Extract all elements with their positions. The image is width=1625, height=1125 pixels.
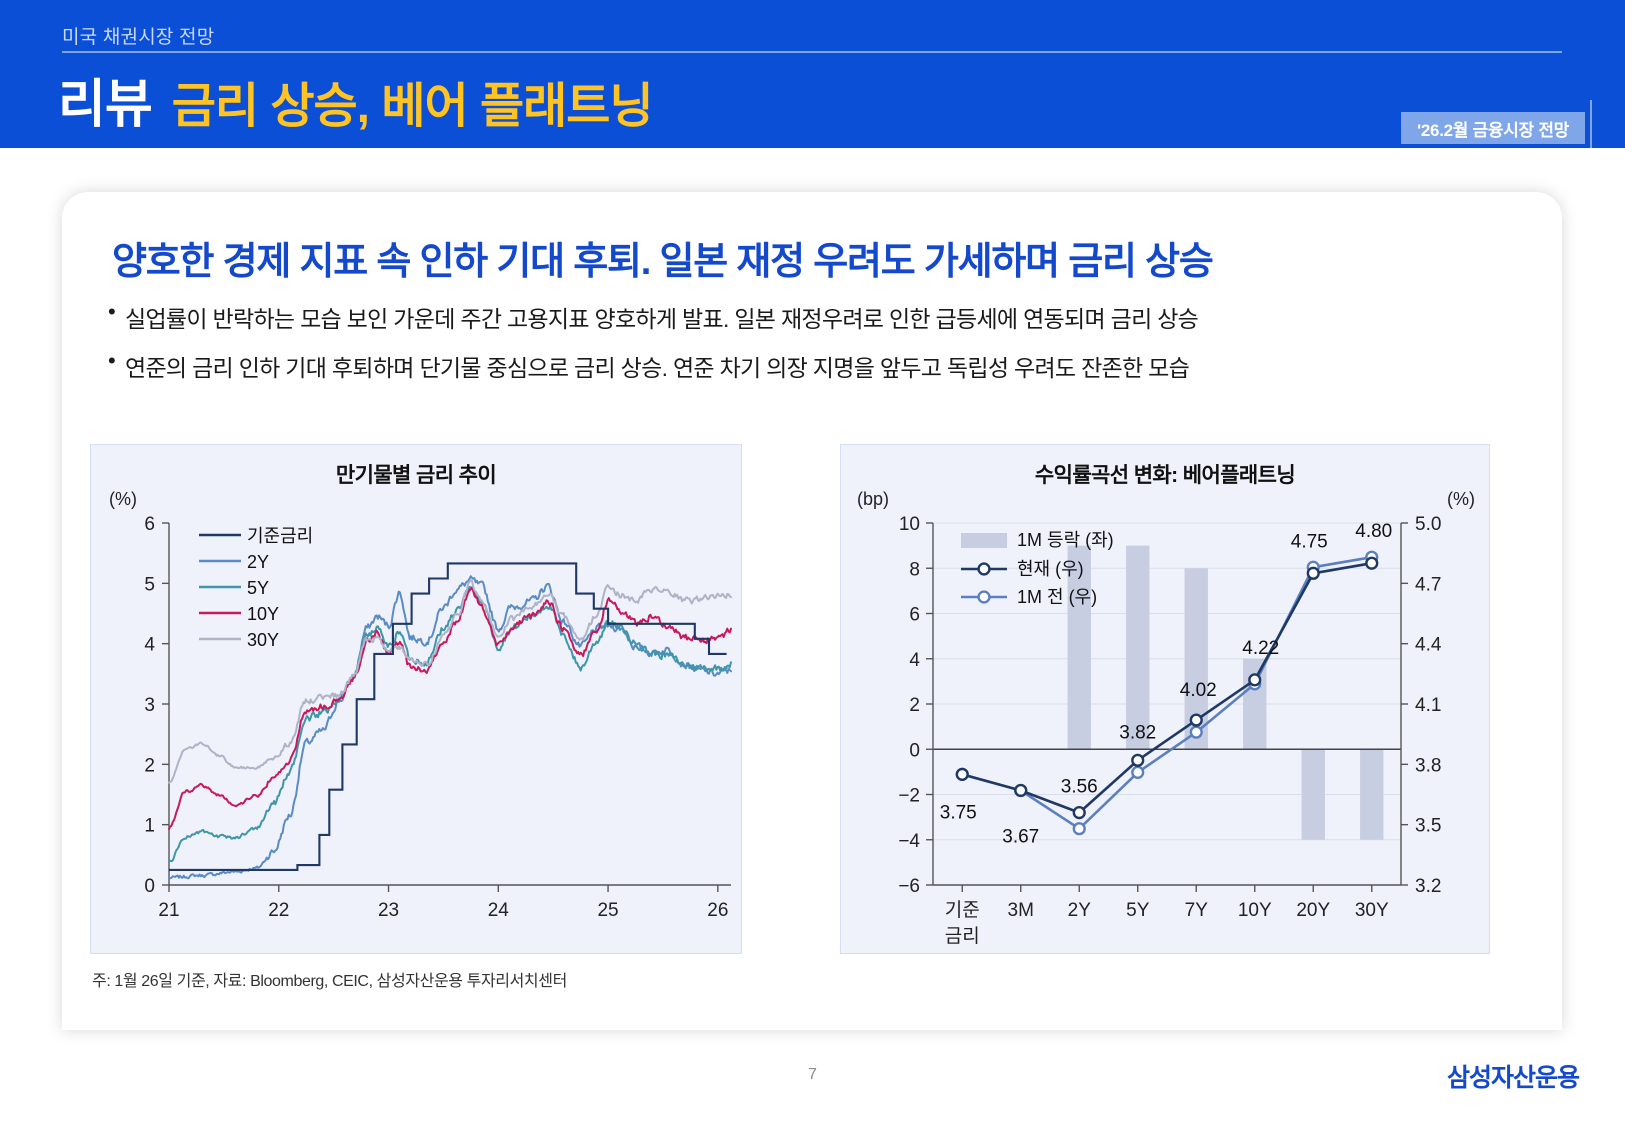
data-label: 3.75 [940, 802, 977, 823]
header-badge-tick [1590, 100, 1592, 148]
data-label: 4.02 [1180, 680, 1217, 701]
svg-text:2Y: 2Y [247, 552, 269, 572]
svg-text:3.5: 3.5 [1415, 816, 1441, 837]
svg-text:2: 2 [909, 695, 920, 716]
svg-text:4.1: 4.1 [1415, 695, 1441, 716]
svg-text:금리: 금리 [945, 925, 980, 947]
data-label: 3.56 [1061, 777, 1098, 798]
svg-text:−2: −2 [898, 786, 920, 807]
svg-text:4.7: 4.7 [1415, 574, 1441, 595]
data-label: 3.67 [1002, 826, 1039, 847]
svg-text:30Y: 30Y [247, 630, 279, 650]
svg-text:22: 22 [268, 900, 289, 921]
page-number: 7 [0, 1066, 1625, 1084]
svg-text:−6: −6 [898, 876, 920, 897]
header-title: 리뷰 금리 상승, 베어 플래트닝 [58, 62, 653, 137]
svg-text:4.4: 4.4 [1415, 635, 1442, 656]
svg-text:1M 전 (우): 1M 전 (우) [1017, 587, 1097, 607]
data-label: 4.22 [1242, 638, 1279, 659]
header-kicker: 리뷰 [58, 62, 152, 137]
svg-text:기준금리: 기준금리 [247, 526, 313, 546]
svg-text:5Y: 5Y [247, 578, 269, 598]
list-item: • 연준의 금리 인하 기대 후퇴하며 단기물 중심으로 금리 상승. 연준 차… [108, 349, 1528, 383]
bullet-dot: • [108, 300, 115, 324]
svg-text:21: 21 [158, 900, 179, 921]
svg-text:2: 2 [144, 755, 155, 776]
content-card: 양호한 경제 지표 속 인하 기대 후퇴. 일본 재정 우려도 가세하며 금리 … [62, 192, 1562, 1030]
svg-text:20Y: 20Y [1296, 900, 1330, 921]
combo-chart-canvas: −6−4−202468103.23.53.84.14.44.75.0기준금리3M… [841, 445, 1491, 955]
list-item: • 실업률이 반락하는 모습 보인 가운데 주간 고용지표 양호하게 발표. 일… [108, 300, 1528, 334]
svg-text:−4: −4 [898, 831, 920, 852]
svg-text:0: 0 [144, 876, 155, 897]
svg-text:2Y: 2Y [1068, 900, 1092, 921]
svg-text:24: 24 [488, 900, 510, 921]
slide-header: 미국 채권시장 전망 리뷰 금리 상승, 베어 플래트닝 '26.2월 금융시장… [0, 0, 1625, 148]
svg-text:4: 4 [909, 650, 920, 671]
svg-text:1M 등락 (좌): 1M 등락 (좌) [1017, 530, 1114, 550]
svg-text:8: 8 [909, 559, 920, 580]
bullet-text: 실업률이 반락하는 모습 보인 가운데 주간 고용지표 양호하게 발표. 일본 … [125, 300, 1198, 334]
svg-text:1: 1 [144, 816, 155, 837]
header-badge: '26.2월 금융시장 전망 [1401, 112, 1585, 144]
chart-maturity-rates: 만기물별 금리 추이 (%) 0123456212223242526기준금리2Y… [90, 444, 742, 954]
svg-text:30Y: 30Y [1355, 900, 1389, 921]
svg-text:26: 26 [707, 900, 728, 921]
line-chart-canvas: 0123456212223242526기준금리2Y5Y10Y30Y [91, 445, 743, 955]
svg-text:6: 6 [909, 605, 920, 626]
page-title: 양호한 경제 지표 속 인하 기대 후퇴. 일본 재정 우려도 가세하며 금리 … [112, 230, 1213, 285]
svg-text:3: 3 [144, 695, 155, 716]
source-note: 주: 1월 26일 기준, 자료: Bloomberg, CEIC, 삼성자산운… [92, 967, 567, 991]
svg-text:5: 5 [144, 574, 155, 595]
bar-20Y [1302, 749, 1325, 840]
bar-10Y [1243, 659, 1266, 750]
svg-text:기준: 기준 [945, 899, 980, 921]
data-label: 3.82 [1119, 722, 1156, 743]
header-eyebrow: 미국 채권시장 전망 [62, 22, 214, 49]
bar-5Y [1126, 546, 1149, 750]
svg-text:5.0: 5.0 [1415, 514, 1441, 535]
svg-text:10: 10 [899, 514, 920, 535]
svg-text:3.2: 3.2 [1415, 876, 1441, 897]
header-divider [62, 51, 1562, 53]
svg-text:7Y: 7Y [1185, 900, 1209, 921]
svg-text:4: 4 [144, 635, 155, 656]
svg-text:5Y: 5Y [1126, 900, 1150, 921]
bullet-text: 연준의 금리 인하 기대 후퇴하며 단기물 중심으로 금리 상승. 연준 차기 … [125, 349, 1189, 383]
data-label: 4.80 [1355, 521, 1392, 542]
chart-yield-curve-change: 수익률곡선 변화: 베어플래트닝 (bp) (%) −6−4−202468103… [840, 444, 1490, 954]
bullet-list: • 실업률이 반락하는 모습 보인 가운데 주간 고용지표 양호하게 발표. 일… [108, 300, 1528, 398]
company-logo: 삼성자산운용 [1447, 1058, 1579, 1094]
bar-30Y [1360, 749, 1383, 840]
svg-text:23: 23 [378, 900, 399, 921]
svg-text:현재 (우): 현재 (우) [1017, 559, 1084, 579]
svg-text:3.8: 3.8 [1415, 755, 1441, 776]
svg-text:10Y: 10Y [1238, 900, 1272, 921]
header-main-title: 금리 상승, 베어 플래트닝 [172, 66, 653, 136]
svg-text:25: 25 [597, 900, 618, 921]
svg-text:6: 6 [144, 514, 155, 535]
data-label: 4.75 [1291, 531, 1328, 552]
svg-text:0: 0 [909, 740, 920, 761]
svg-text:3M: 3M [1008, 900, 1034, 921]
svg-text:10Y: 10Y [247, 604, 279, 624]
bullet-dot: • [108, 349, 115, 373]
